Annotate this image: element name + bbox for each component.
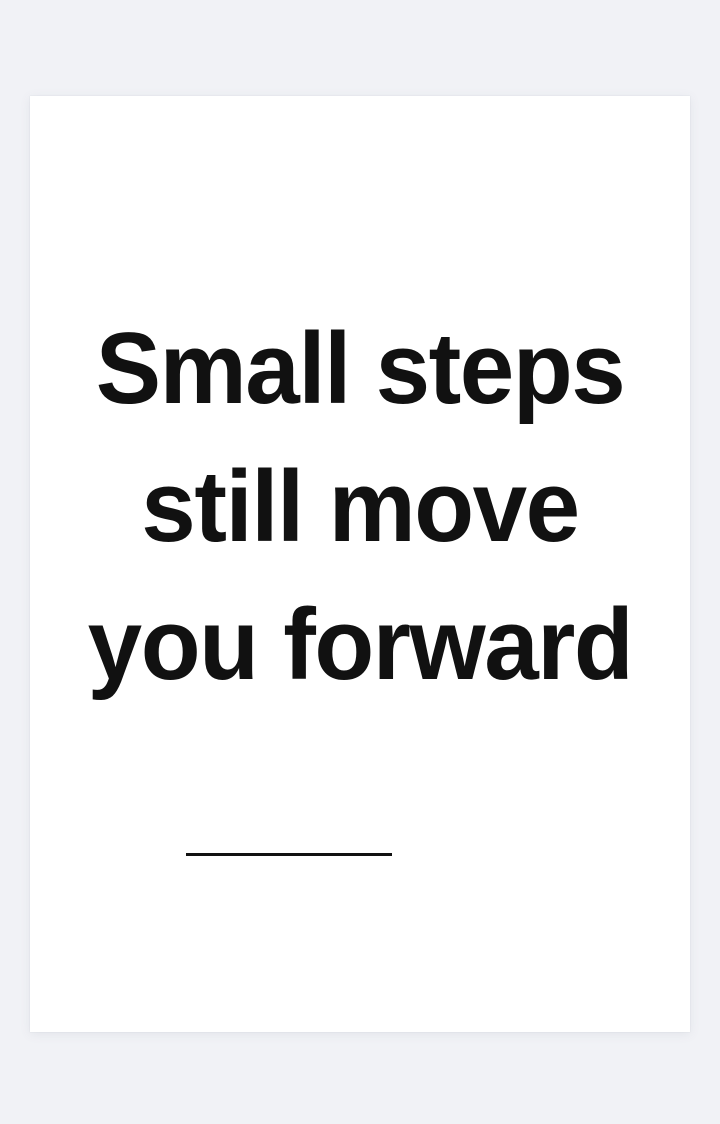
- quote-line-3: you forward: [40, 576, 680, 714]
- quote-text-block: Small steps still move you forward: [30, 96, 690, 714]
- poster-canvas: Small steps still move you forward: [0, 0, 720, 1124]
- quote-card: Small steps still move you forward: [30, 96, 690, 1032]
- quote-divider-rule: [186, 853, 392, 856]
- quote-line-1: Small steps: [40, 300, 680, 438]
- quote-line-2: still move: [40, 438, 680, 576]
